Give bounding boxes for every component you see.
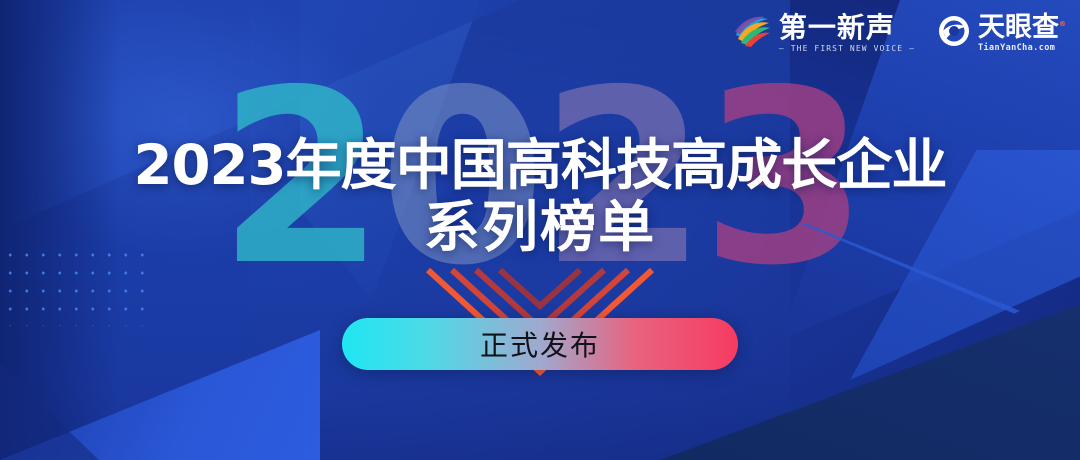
logo-diyixinsheng-text: 第一新声 — THE FIRST NEW VOICE — (779, 14, 915, 53)
background-facet-bottom-left (0, 330, 320, 460)
logo-diyixinsheng-cn: 第一新声 (779, 14, 915, 42)
headline-line-1: 2023年度中国高科技高成长企业 (0, 134, 1080, 196)
swirl-ribbon-icon (732, 12, 772, 55)
eye-lens-icon (937, 14, 971, 53)
logo-diyixinsheng-en: — THE FIRST NEW VOICE — (779, 45, 915, 53)
promo-banner: 2 0 2 3 2023年度中国高科技高成长企业 系列榜单 正式发布 (0, 0, 1080, 460)
logo-bar: 第一新声 — THE FIRST NEW VOICE — 天眼查® TianYa… (732, 12, 1066, 55)
headline-line-2: 系列榜单 (0, 196, 1080, 258)
release-badge[interactable]: 正式发布 (342, 318, 738, 370)
logo-diyixinsheng[interactable]: 第一新声 — THE FIRST NEW VOICE — (732, 12, 915, 55)
logo-tianyancha-en: TianYanCha.com (978, 44, 1066, 53)
trademark-symbol: ® (1059, 20, 1066, 28)
logo-tianyancha-cn: 天眼查® (978, 14, 1066, 41)
background-facet-bottom-left-dark (0, 364, 260, 460)
logo-tianyancha[interactable]: 天眼查® TianYanCha.com (937, 14, 1066, 53)
logo-tianyancha-text: 天眼查® TianYanCha.com (978, 14, 1066, 53)
release-badge-label: 正式发布 (480, 324, 600, 364)
page-title: 2023年度中国高科技高成长企业 系列榜单 (0, 134, 1080, 258)
